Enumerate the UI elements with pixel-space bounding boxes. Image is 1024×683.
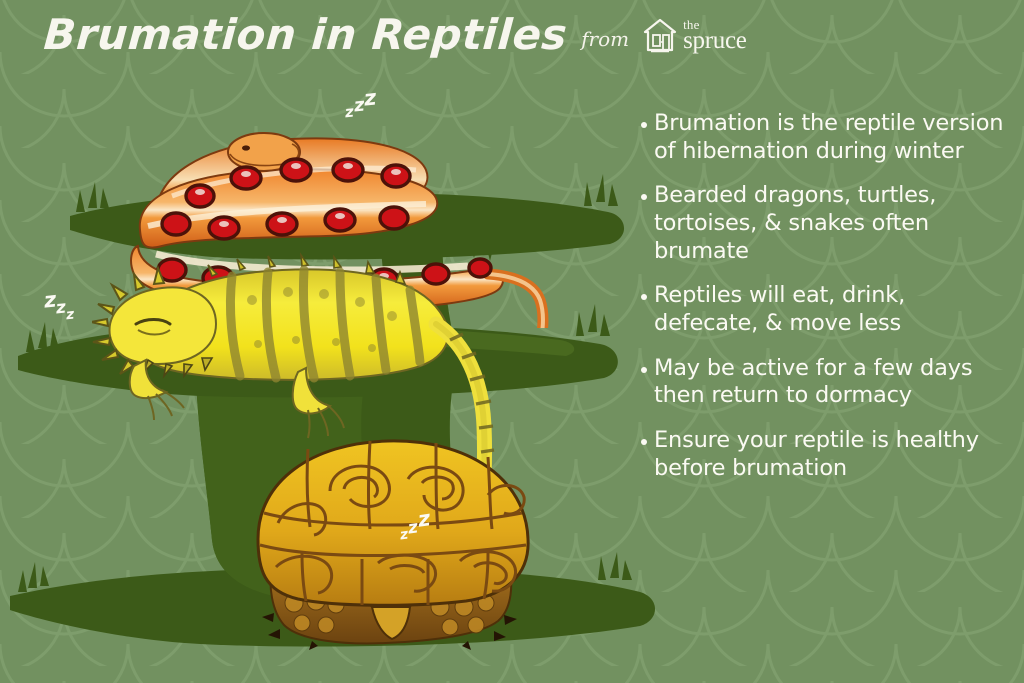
fact-text: Ensure your reptile is healthy before br… [654, 427, 1011, 482]
list-item: Reptiles will eat, drink, defecate, & mo… [641, 282, 1011, 337]
zzz-tortoise-icon: zzz [400, 512, 430, 536]
fact-text: Bearded dragons, turtles, tortoises, & s… [654, 182, 1011, 265]
brand-line-spruce: spruce [683, 31, 746, 52]
tree-upper-trunk [380, 232, 452, 330]
header: Brumation in Reptiles from the spruce [44, 14, 747, 56]
corn-snake-illustration [96, 78, 556, 328]
list-item: May be active for a few days then return… [641, 355, 1011, 410]
house-icon [643, 18, 677, 54]
tortoise-illustration [236, 435, 546, 650]
list-item: Ensure your reptile is healthy before br… [641, 427, 1011, 482]
bullet-dot-icon [641, 367, 647, 373]
from-label: from [581, 27, 629, 51]
page-title: Brumation in Reptiles [43, 14, 569, 56]
bullet-dot-icon [641, 122, 647, 128]
platform-bottom [10, 552, 655, 647]
zzz-snake-icon: zzz [345, 92, 376, 116]
tree-trunk [196, 378, 480, 600]
fact-list: Brumation is the reptile version of hibe… [641, 110, 1011, 482]
brand-logo[interactable]: the spruce [643, 18, 746, 54]
list-item: Brumation is the reptile version of hibe… [641, 110, 1011, 165]
platform-middle [18, 304, 618, 397]
platform-top [70, 174, 624, 261]
infographic-poster: Brumation in Reptiles from the spruce zz… [0, 0, 1024, 683]
fact-text: May be active for a few days then return… [654, 355, 1011, 410]
fact-text: Reptiles will eat, drink, defecate, & mo… [654, 282, 1011, 337]
bullet-dot-icon [641, 439, 647, 445]
list-item: Bearded dragons, turtles, tortoises, & s… [641, 182, 1011, 265]
bearded-dragon-illustration [92, 240, 522, 540]
bullet-dot-icon [641, 294, 647, 300]
zzz-dragon-icon: zzz [44, 292, 74, 316]
bullet-dot-icon [641, 194, 647, 200]
fact-text: Brumation is the reptile version of hibe… [654, 110, 1011, 165]
